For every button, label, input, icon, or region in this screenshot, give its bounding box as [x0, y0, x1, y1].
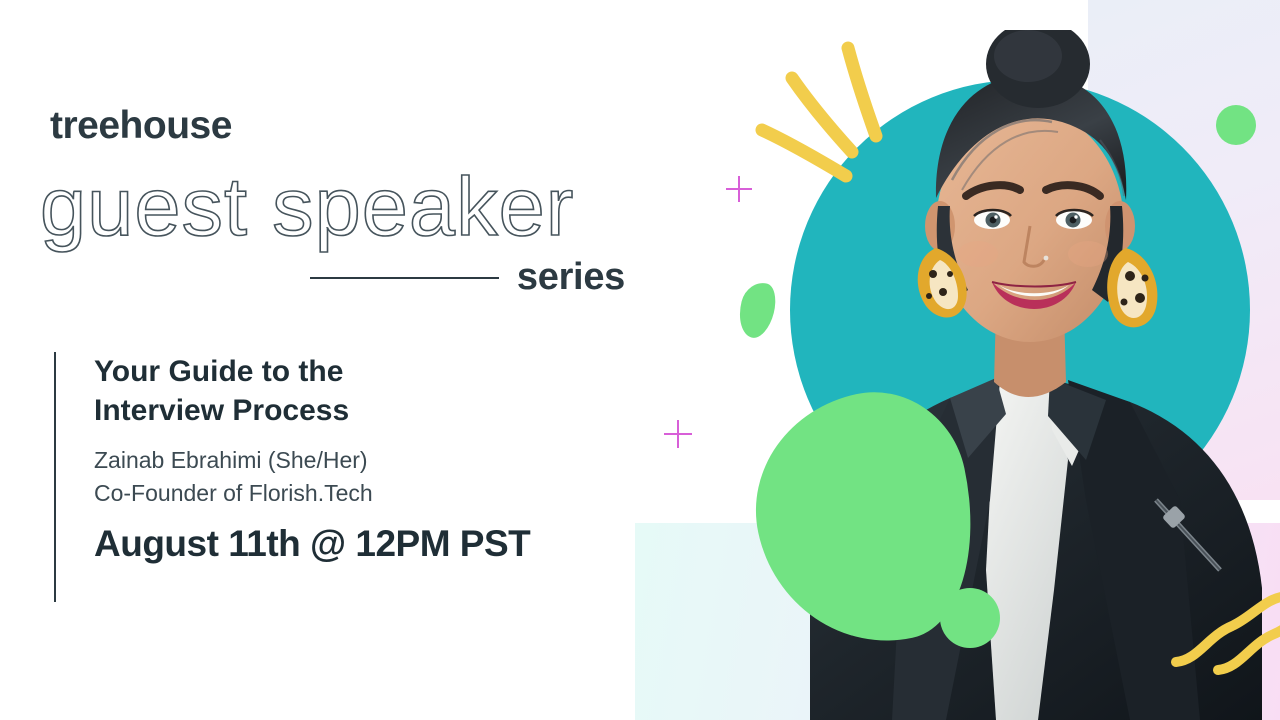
plus-mark-icon-top	[726, 176, 752, 202]
event-datetime: August 11th @ 12PM PST	[94, 523, 530, 565]
yellow-wavy-lines-icon	[1160, 570, 1280, 690]
plus-mark-icon-left	[664, 420, 692, 448]
series-lockup: series	[310, 256, 625, 299]
series-divider-rule	[310, 277, 499, 279]
earring-right	[1107, 248, 1157, 327]
promo-graphic: treehouse guest speaker series Your Guid…	[0, 0, 1280, 720]
treehouse-wordmark: treehouse	[50, 104, 232, 148]
green-dot-bottom-icon	[940, 588, 1000, 648]
event-details-block: Your Guide to the Interview Process Zain…	[54, 352, 530, 602]
talk-title: Your Guide to the Interview Process	[94, 352, 530, 430]
green-blob-small-icon	[734, 279, 781, 342]
speaker-role: Co-Founder of Florish.Tech	[94, 477, 530, 510]
yellow-brush-strokes-icon	[740, 30, 920, 210]
speaker-name: Zainab Ebrahimi (She/Her)	[94, 444, 530, 477]
guest-speaker-headline: guest speaker	[40, 163, 574, 250]
series-label: series	[517, 256, 625, 299]
